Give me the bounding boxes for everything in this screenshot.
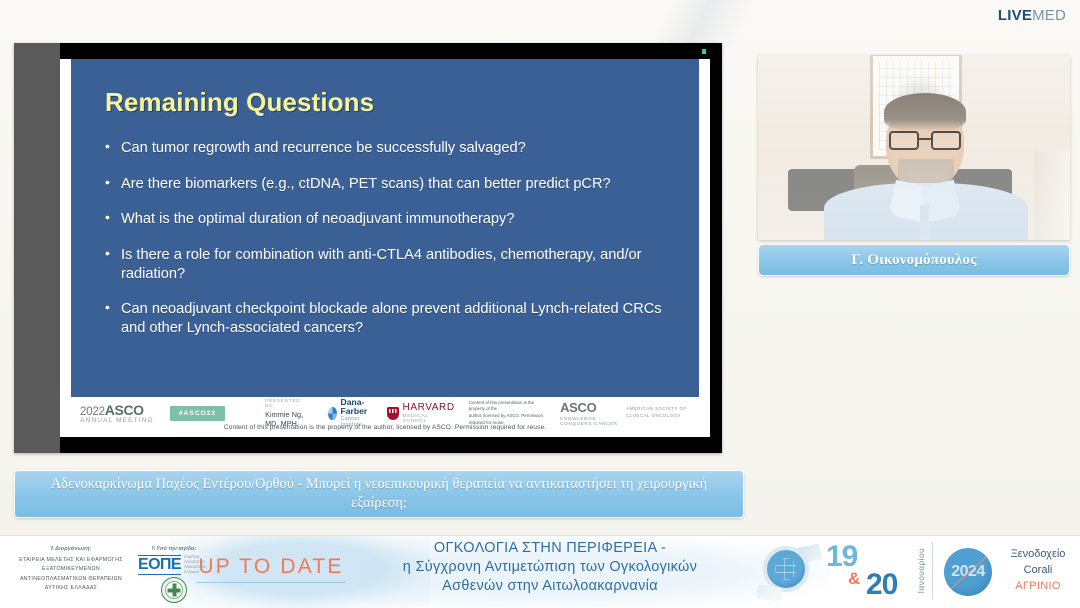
event-date-divider bbox=[932, 542, 933, 600]
slide-viewer[interactable]: Remaining Questions Can tumor regrowth a… bbox=[14, 43, 722, 453]
organizer-block: \\ Διοργάνωση: ΕΤΑΙΡΕΙΑ ΜΕΛΕΤΗΣ ΚΑΙ ΕΦΑΡ… bbox=[8, 546, 134, 593]
asco-hashtag-badge: #ASCO22 bbox=[170, 406, 225, 421]
event-dates: 19 & 20 Ιανουαρίου bbox=[822, 538, 942, 606]
slide-footer-logos: 2022ASCO ANNUAL MEETING #ASCO22 PRESENTE… bbox=[72, 401, 702, 425]
livemed-logo: LIVEMED bbox=[998, 8, 1066, 23]
slide-canvas: Remaining Questions Can tumor regrowth a… bbox=[60, 59, 710, 437]
harvard-name: HARVARD bbox=[403, 403, 455, 413]
top-bar: LIVEMED bbox=[0, 0, 1080, 34]
session-caption-line1: Αδενοκαρκίνωμα Παχέος Εντέρου/Ορθού - Μπ… bbox=[51, 476, 617, 492]
speaker-name-bar: Γ. Οικονομόπουλος bbox=[758, 244, 1070, 276]
event-title-line1: ΟΓΚΟΛΟΓΙΑ ΣΤΗΝ ΠΕΡΙΦΕΡΕΙΑ - bbox=[350, 539, 750, 558]
up-to-date-underline bbox=[196, 582, 346, 583]
asco-society-name: ASCO bbox=[560, 401, 622, 414]
recording-indicator-icon bbox=[702, 49, 706, 54]
event-title: ΟΓΚΟΛΟΓΙΑ ΣΤΗΝ ΠΕΡΙΦΕΡΕΙΑ - η Σύγχρονη Α… bbox=[350, 539, 750, 596]
session-caption-bar: Αδενοκαρκίνωμα Παχέος Εντέρου/Ορθού - Μπ… bbox=[14, 470, 744, 518]
video-overexposure-overlay bbox=[758, 55, 1070, 240]
asco-wordmark: ASCO bbox=[105, 402, 144, 418]
footer-mini-copyright-line1: Content of this presentation is the prop… bbox=[469, 400, 546, 413]
harvard-logo: HARVARD MEDICAL SCHOOL bbox=[387, 403, 455, 424]
slide-content: Remaining Questions Can tumor regrowth a… bbox=[60, 59, 710, 437]
webcast-viewer: LIVEMED Remaining Questions Can tumor re… bbox=[0, 0, 1080, 608]
event-title-line3: Ασθενών στην Αιτωλοακαρνανία bbox=[350, 577, 750, 596]
slide-copyright: Content of this presentation is the prop… bbox=[60, 424, 710, 431]
globe-icon bbox=[757, 540, 819, 602]
eope-wordmark: ΕΟΠΕ bbox=[138, 555, 181, 575]
slide-title: Remaining Questions bbox=[105, 87, 374, 118]
auspices-label: \\ Υπό την αιγίδα: bbox=[128, 546, 220, 552]
footer-mini-copyright: Content of this presentation is the prop… bbox=[469, 400, 546, 426]
medical-association-emblem-icon bbox=[161, 577, 187, 603]
livemed-logo-med: MED bbox=[1032, 7, 1066, 24]
asco-society-sub: AMERICAN SOCIETY OF CLINICAL ONCOLOGY bbox=[626, 406, 702, 419]
speaker-video-feed[interactable] bbox=[758, 55, 1070, 240]
slide-body: Remaining Questions Can tumor regrowth a… bbox=[71, 59, 699, 397]
event-title-line2: η Σύγχρονη Αντιμετώπιση των Ογκολογικών bbox=[350, 558, 750, 577]
up-to-date-logo: UP TO DATE bbox=[196, 556, 346, 583]
organizer-label: \\ Διοργάνωση: bbox=[8, 546, 134, 552]
slide-bullet: What is the optimal duration of neoadjuv… bbox=[103, 210, 678, 229]
asco-annual-meeting-logo: 2022ASCO ANNUAL MEETING bbox=[80, 402, 154, 424]
venue-city: ΑΓΡΙΝΙΟ bbox=[998, 579, 1078, 595]
speaker-name: Γ. Οικονομόπουλος bbox=[851, 252, 976, 269]
event-venue: Ξενοδοχείο Corali ΑΓΡΙΝΙΟ bbox=[998, 547, 1078, 595]
venue-name: Corali bbox=[998, 563, 1078, 579]
organizer-name: ΕΤΑΙΡΕΙΑ ΜΕΛΕΤΗΣ ΚΑΙ ΕΦΑΡΜΟΓΗΣ ΕΞΑΤΟΜΙΚΕ… bbox=[8, 556, 134, 593]
livemed-logo-live: LIVE bbox=[998, 7, 1032, 24]
slide-bullet-list: Can tumor regrowth and recurrence be suc… bbox=[103, 139, 678, 355]
event-date-ampersand: & bbox=[848, 569, 860, 589]
dana-farber-name: Dana-Farber bbox=[341, 398, 373, 416]
harvard-sub: MEDICAL SCHOOL bbox=[403, 414, 455, 424]
event-month: Ιανουαρίου bbox=[916, 548, 926, 593]
event-day-second: 20 bbox=[866, 568, 897, 602]
slide-bullet: Are there biomarkers (e.g., ctDNA, PET s… bbox=[103, 175, 678, 194]
slide-bullet: Can neoadjuvant checkpoint blockade alon… bbox=[103, 300, 678, 337]
dana-farber-mark-icon bbox=[328, 407, 336, 420]
globe-grid-lines bbox=[775, 558, 797, 580]
slide-footer: 2022ASCO ANNUAL MEETING #ASCO22 PRESENTE… bbox=[60, 397, 710, 437]
up-to-date-text: UP TO DATE bbox=[196, 556, 346, 577]
slide-bullet: Is there a role for combination with ant… bbox=[103, 246, 678, 283]
harvard-shield-icon bbox=[387, 407, 399, 420]
slide-bullet: Can tumor regrowth and recurrence be suc… bbox=[103, 139, 678, 158]
globe-card-front bbox=[756, 584, 782, 601]
presented-by-label: PRESENTED BY: bbox=[265, 398, 312, 408]
venue-label: Ξενοδοχείο bbox=[998, 547, 1078, 563]
asco-society-logo: ASCO KNOWLEDGE CONQUERS CANCER AMERICAN … bbox=[560, 401, 702, 426]
session-caption-text: Αδενοκαρκίνωμα Παχέος Εντέρου/Ορθού - Μπ… bbox=[27, 475, 731, 513]
event-year-badge: 2024 bbox=[944, 548, 992, 596]
asco-meeting-label: ANNUAL MEETING bbox=[80, 417, 154, 424]
